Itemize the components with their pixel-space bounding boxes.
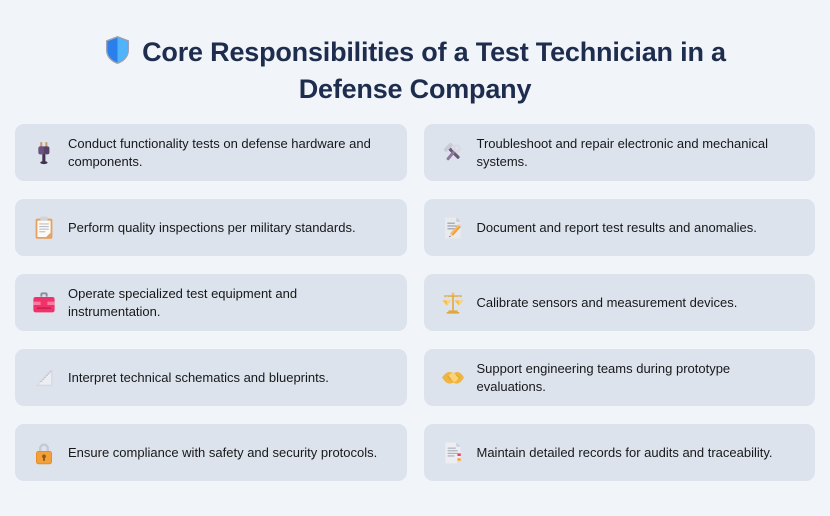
clipboard-icon xyxy=(25,215,63,241)
responsibility-card[interactable]: Maintain detailed records for audits and… xyxy=(424,424,816,481)
handshake-icon xyxy=(434,365,472,391)
responsibility-text: Troubleshoot and repair electronic and m… xyxy=(472,135,802,171)
page-header: Core Responsibilities of a Test Technici… xyxy=(0,0,830,108)
triangular-ruler-icon xyxy=(25,365,63,391)
responsibility-text: Document and report test results and ano… xyxy=(472,219,757,237)
toolbox-icon xyxy=(25,290,63,316)
lock-icon xyxy=(25,440,63,466)
responsibility-text: Conduct functionality tests on defense h… xyxy=(63,135,393,171)
infographic-page: Core Responsibilities of a Test Technici… xyxy=(0,0,830,516)
memo-pencil-icon xyxy=(434,215,472,241)
responsibility-card[interactable]: Ensure compliance with safety and securi… xyxy=(15,424,407,481)
responsibility-card[interactable]: Document and report test results and ano… xyxy=(424,199,816,256)
responsibility-text: Maintain detailed records for audits and… xyxy=(472,444,773,462)
responsibility-text: Operate specialized test equipment and i… xyxy=(63,285,393,321)
responsibility-card[interactable]: Conduct functionality tests on defense h… xyxy=(15,124,407,181)
receipt-document-icon xyxy=(434,440,472,466)
responsibility-card[interactable]: Troubleshoot and repair electronic and m… xyxy=(424,124,816,181)
balance-scale-icon xyxy=(434,290,472,316)
responsibility-card[interactable]: Perform quality inspections per military… xyxy=(15,199,407,256)
responsibility-card-grid: Conduct functionality tests on defense h… xyxy=(15,124,815,481)
responsibility-text: Calibrate sensors and measurement device… xyxy=(472,294,738,312)
responsibility-text: Support engineering teams during prototy… xyxy=(472,360,802,396)
page-title-line1: Core Responsibilities of a Test Technici… xyxy=(142,37,726,67)
page-title-line2: Defense Company xyxy=(299,74,532,104)
responsibility-card[interactable]: Interpret technical schematics and bluep… xyxy=(15,349,407,406)
responsibility-text: Ensure compliance with safety and securi… xyxy=(63,444,377,462)
responsibility-card[interactable]: Support engineering teams during prototy… xyxy=(424,349,816,406)
responsibility-card[interactable]: Calibrate sensors and measurement device… xyxy=(424,274,816,331)
electric-plug-icon xyxy=(25,140,63,166)
page-title: Core Responsibilities of a Test Technici… xyxy=(58,34,772,108)
responsibility-text: Interpret technical schematics and bluep… xyxy=(63,369,329,387)
shield-icon xyxy=(104,35,131,65)
hammer-and-wrench-icon xyxy=(434,140,472,166)
responsibility-text: Perform quality inspections per military… xyxy=(63,219,356,237)
responsibility-card[interactable]: Operate specialized test equipment and i… xyxy=(15,274,407,331)
